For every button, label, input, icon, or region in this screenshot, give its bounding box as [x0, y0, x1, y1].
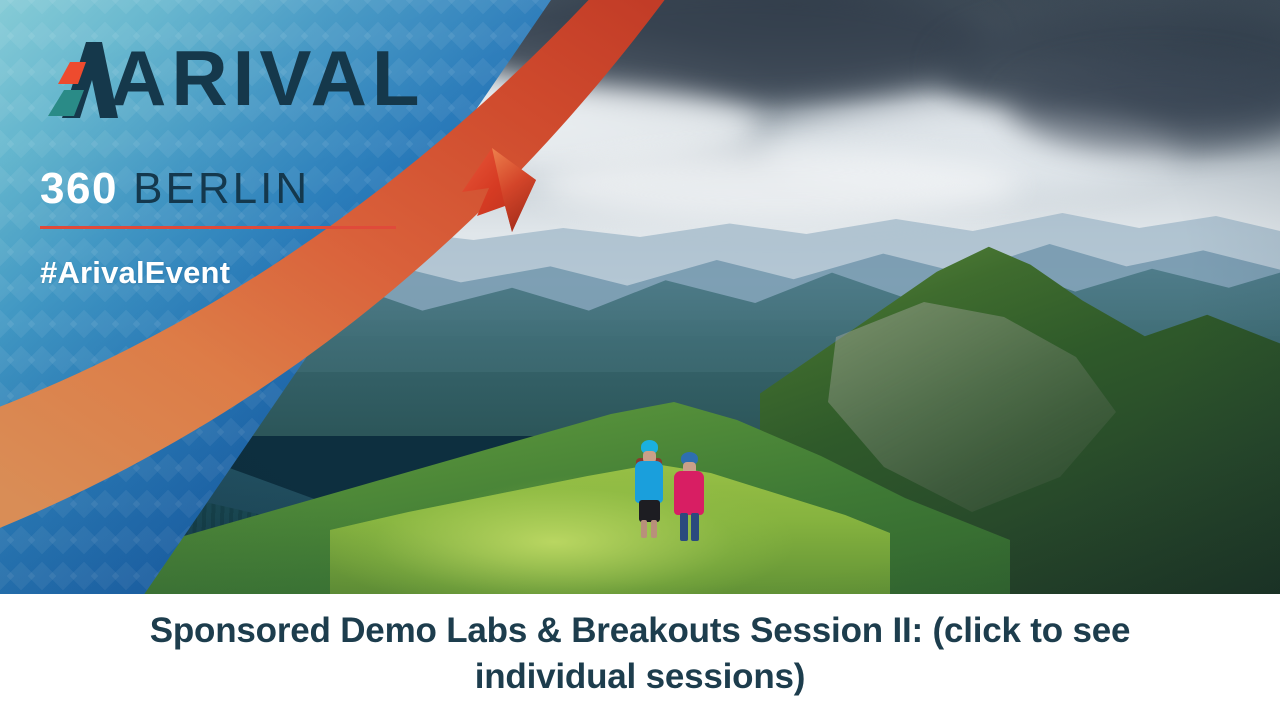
jacket — [674, 471, 704, 515]
leg — [651, 520, 657, 538]
edition-line: 360 BERLIN — [40, 164, 310, 214]
session-title-link[interactable]: Sponsored Demo Labs & Breakouts Session … — [120, 608, 1160, 700]
leg — [641, 520, 647, 538]
edition-number: 360 — [40, 164, 118, 213]
shorts — [639, 500, 660, 522]
cloud-shape — [540, 150, 1020, 220]
logo-wordmark-text: ARIVAL — [110, 36, 425, 120]
edition-city: BERLIN — [118, 164, 310, 213]
jacket — [635, 461, 663, 503]
leg-jeans — [680, 513, 688, 541]
hiker-pink-jacket — [672, 452, 706, 544]
red-rule-divider — [40, 226, 396, 229]
hero-banner-image[interactable]: ARIVAL 360 BERLIN #ArivalEvent — [0, 0, 1280, 594]
hiker-blue-jacket — [632, 440, 666, 540]
logo-wordmark-row: ARIVAL — [38, 26, 458, 126]
leg-jeans — [691, 513, 699, 541]
brand-logo-block: ARIVAL 360 BERLIN #ArivalEvent — [38, 26, 458, 126]
event-hashtag: #ArivalEvent — [40, 254, 230, 292]
arival-a-mark-icon — [40, 40, 118, 120]
slide-page: ARIVAL 360 BERLIN #ArivalEvent Sponsored… — [0, 0, 1280, 720]
caption-area: Sponsored Demo Labs & Breakouts Session … — [0, 594, 1280, 720]
